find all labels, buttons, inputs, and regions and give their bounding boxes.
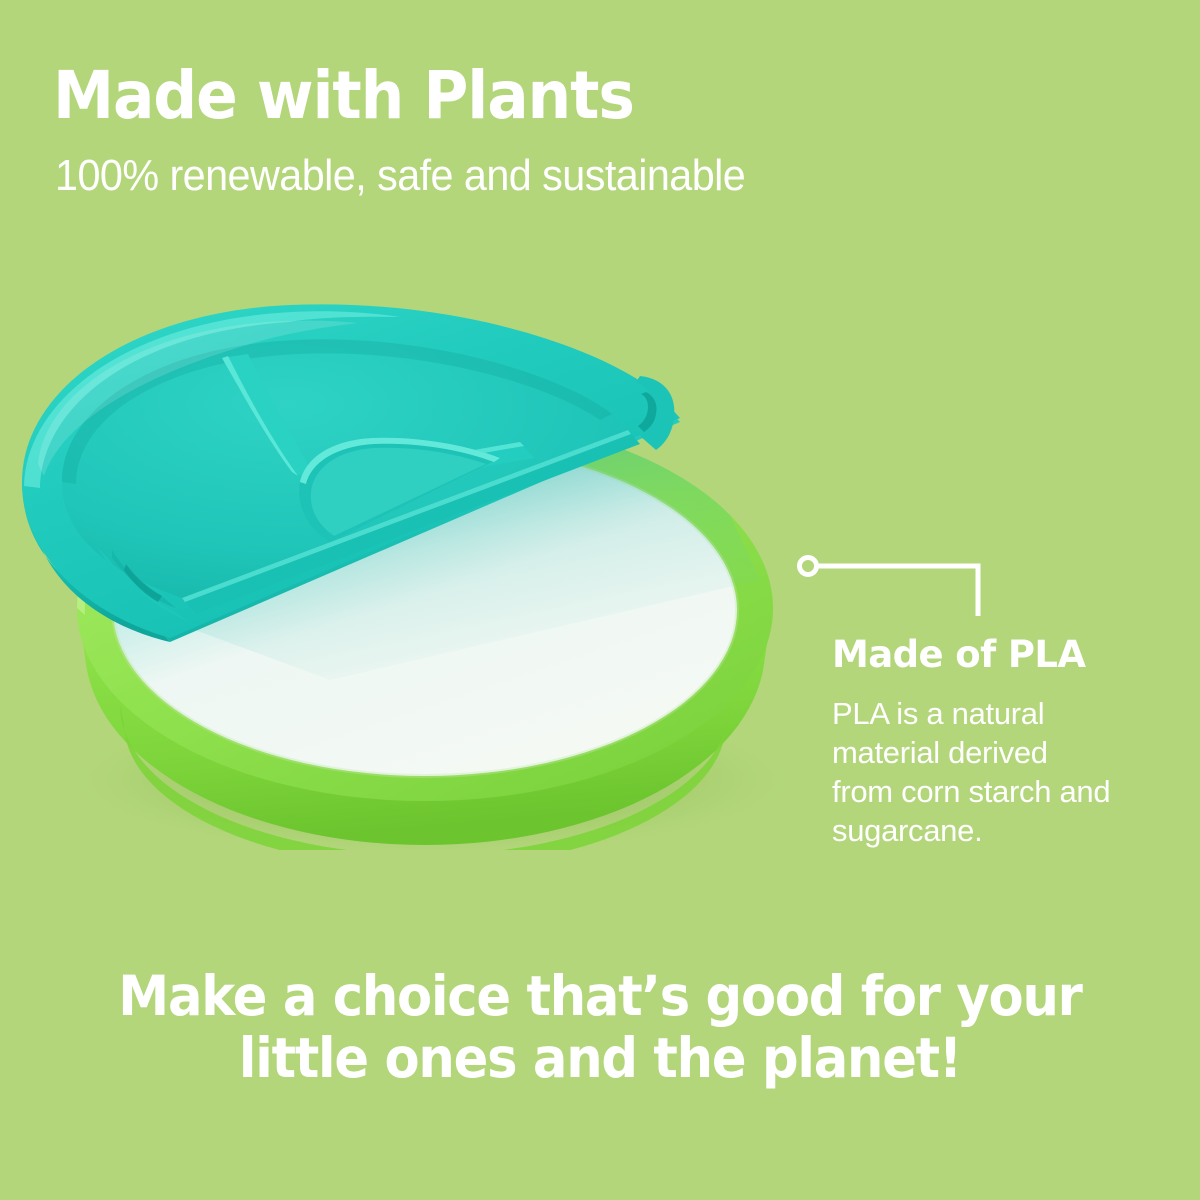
infographic-canvas: Made with Plants 100% renewable, safe an… [0,0,1200,1200]
footer-tagline: Make a choice that’s good for your littl… [0,965,1200,1089]
callout-body-line-1: PLA is a natural [832,694,1192,733]
callout-body-line-2: material derived [832,733,1192,772]
callout-leader-line [780,540,1010,640]
callout-body: PLA is a natural material derived from c… [832,694,1192,850]
tagline-line-2: little ones and the planet! [42,1027,1158,1089]
callout-dot-icon [800,558,817,575]
tagline-line-1: Make a choice that’s good for your [42,965,1158,1027]
callout-body-line-3: from corn starch and [832,772,1192,811]
callout-title: Made of PLA [832,634,1085,676]
product-image-divided-plate [0,250,860,850]
page-title: Made with Plants [53,60,634,132]
leader-path [817,566,978,616]
callout-body-line-4: sugarcane. [832,811,1192,850]
page-subtitle: 100% renewable, safe and sustainable [55,150,745,202]
